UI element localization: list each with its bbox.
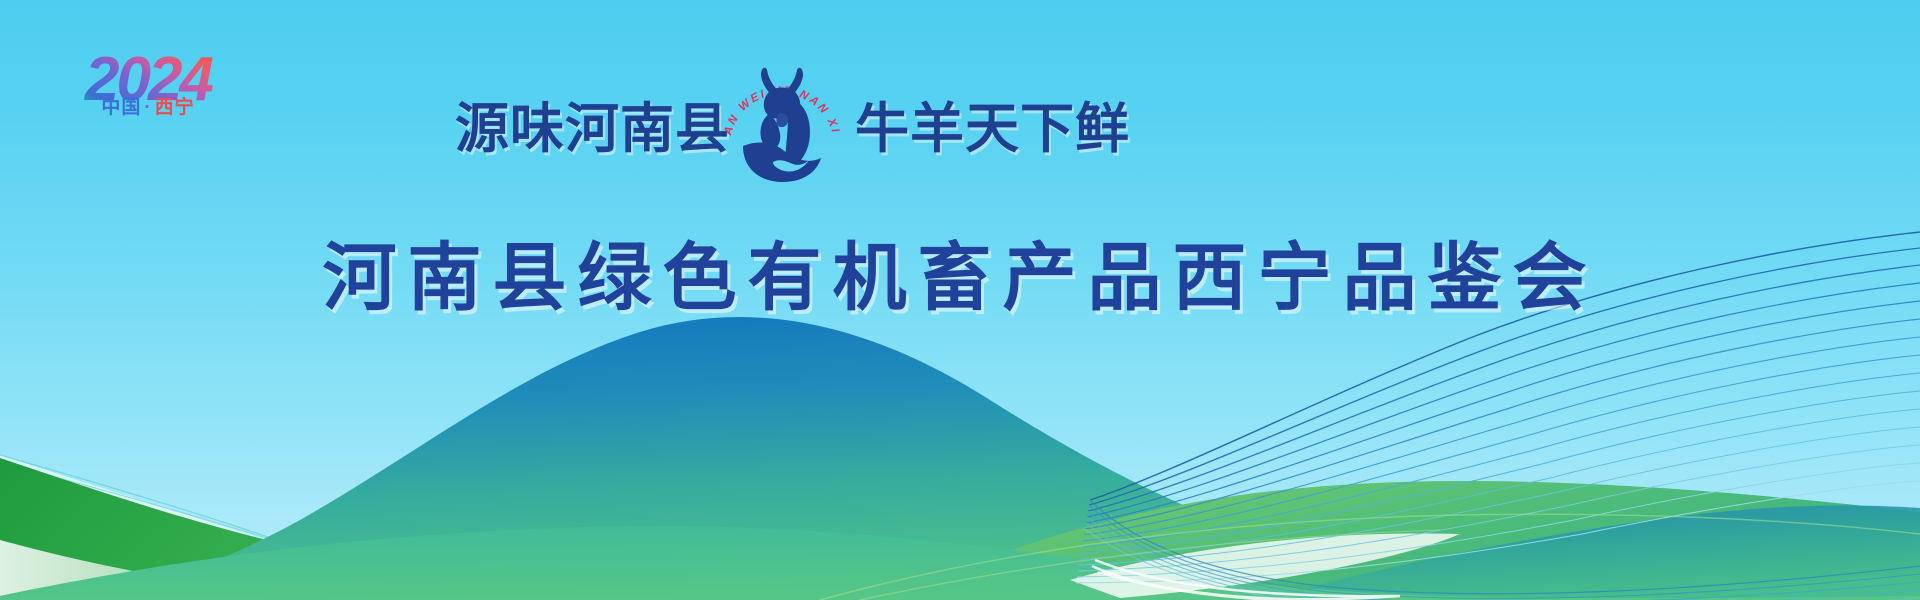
yak-icon	[743, 68, 821, 182]
yak-emblem: YUAN WEI HE NAN XIAN	[717, 52, 847, 182]
brand-right-text: 牛羊天下鲜	[855, 84, 1130, 163]
event-banner: 2024 中国·西宁 源味河南县 YUAN WEI HE NAN XIAN	[0, 0, 1920, 600]
brand-lockup: 源味河南县 YUAN WEI HE NAN XIAN	[455, 62, 1155, 182]
city-label: 中国·西宁	[78, 98, 218, 117]
brand-left-text: 源味河南县	[455, 84, 730, 163]
city-label-separator: ·	[141, 98, 154, 117]
city-label-city: 西宁	[155, 98, 195, 117]
year-logo: 2024	[78, 48, 218, 134]
city-label-country: 中国	[101, 98, 141, 117]
event-title: 河南县绿色有机畜产品西宁品鉴会	[0, 218, 1920, 325]
